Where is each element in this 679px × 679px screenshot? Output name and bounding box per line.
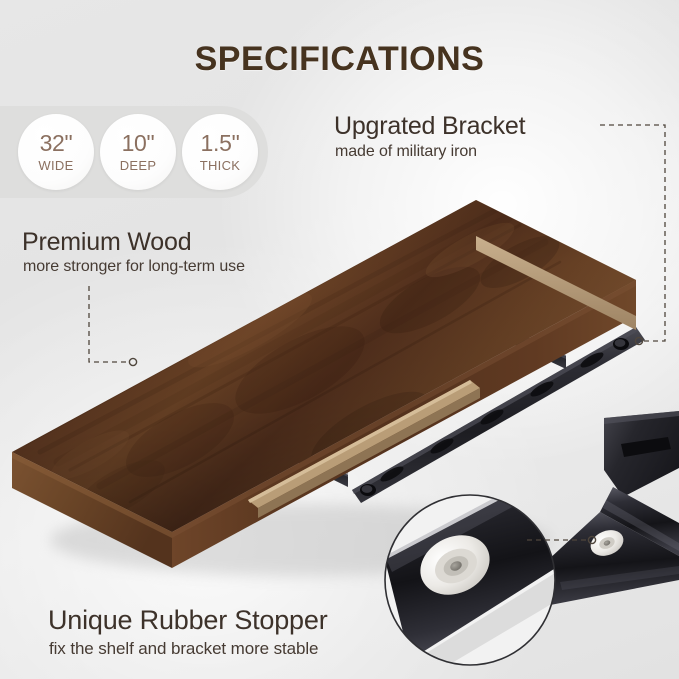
product-illustration (0, 0, 679, 679)
badge-thickness: 1.5" THICK (182, 114, 258, 190)
badge-depth-label: DEEP (120, 159, 157, 172)
leader-dot-wood (129, 358, 136, 365)
page-title: SPECIFICATIONS (0, 40, 679, 79)
callout-stopper-subtitle: fix the shelf and bracket more stable (49, 639, 318, 659)
callout-wood-title: Premium Wood (22, 228, 191, 257)
callout-stopper-title: Unique Rubber Stopper (48, 605, 328, 636)
leader-wood (89, 286, 129, 362)
badge-width-value: 32" (40, 132, 73, 155)
badge-thickness-value: 1.5" (201, 132, 240, 155)
callout-wood-subtitle: more stronger for long-term use (23, 258, 245, 276)
badge-thickness-label: THICK (200, 159, 241, 172)
product-spec-image: SPECIFICATIONS 32" WIDE 10" DEEP 1.5" TH… (0, 0, 679, 679)
callout-bracket-subtitle: made of military iron (335, 143, 477, 161)
callout-bracket-title: Upgrated Bracket (334, 112, 525, 141)
dimension-badge-panel: 32" WIDE 10" DEEP 1.5" THICK (0, 106, 268, 198)
badge-depth: 10" DEEP (100, 114, 176, 190)
badge-depth-value: 10" (122, 132, 155, 155)
badge-width: 32" WIDE (18, 114, 94, 190)
badge-width-label: WIDE (38, 159, 73, 172)
